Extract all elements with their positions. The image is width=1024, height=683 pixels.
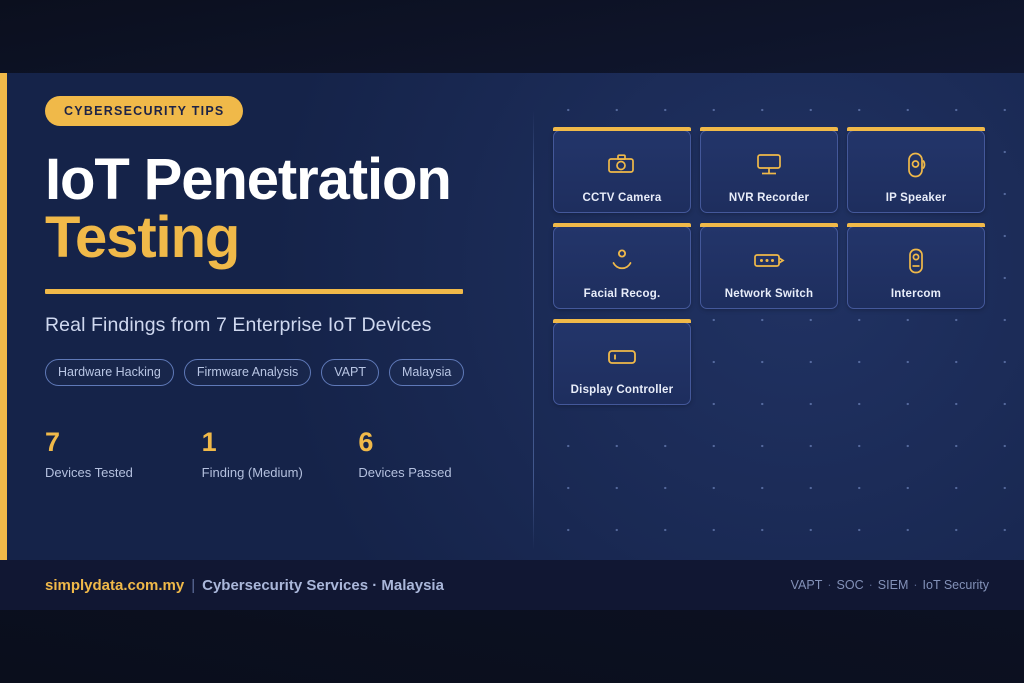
stat-label: Devices Tested: [45, 465, 202, 480]
stat-devices-passed: 6 Devices Passed: [358, 429, 515, 480]
device-name: Display Controller: [554, 384, 690, 396]
tag-list: Hardware Hacking Firmware Analysis VAPT …: [45, 359, 515, 386]
stat-label: Finding (Medium): [202, 465, 359, 480]
card-top-accent: [553, 319, 691, 323]
device-card-facial-recog: Facial Recog.: [553, 226, 691, 309]
device-name: Network Switch: [701, 288, 837, 300]
footer-services: Cybersecurity Services · Malaysia: [202, 577, 444, 594]
column-divider: [533, 110, 534, 550]
footer-tag-soc: SOC: [837, 578, 864, 592]
device-card-ip-speaker: IP Speaker: [847, 130, 985, 213]
tag-hardware-hacking: Hardware Hacking: [45, 359, 174, 386]
device-card-cctv-camera: CCTV Camera: [553, 130, 691, 213]
speaker-icon: [903, 150, 929, 180]
tag-firmware-analysis: Firmware Analysis: [184, 359, 311, 386]
stat-value: 6: [358, 429, 515, 456]
tag-malaysia: Malaysia: [389, 359, 464, 386]
stats-row: 7 Devices Tested 1 Finding (Medium) 6 De…: [45, 429, 515, 480]
title-line-1: IoT Penetration: [45, 152, 515, 208]
card-top-accent: [847, 127, 985, 131]
stat-label: Devices Passed: [358, 465, 515, 480]
intercom-icon: [905, 246, 927, 276]
category-badge: CYBERSECURITY TIPS: [45, 96, 243, 126]
footer-separator: |: [191, 577, 195, 594]
card-top-accent: [553, 223, 691, 227]
footer-tag-vapt: VAPT: [791, 578, 823, 592]
device-name: NVR Recorder: [701, 192, 837, 204]
footer-brand: simplydata.com.my: [45, 577, 184, 594]
left-accent-bar: [0, 73, 7, 560]
subtitle: Real Findings from 7 Enterprise IoT Devi…: [45, 314, 515, 337]
left-column: CYBERSECURITY TIPS IoT Penetration Testi…: [45, 96, 515, 480]
device-name: IP Speaker: [848, 192, 984, 204]
footer-bar: simplydata.com.my|Cybersecurity Services…: [0, 560, 1024, 610]
footer-tag-dot: ·: [869, 578, 873, 592]
page-title: IoT Penetration Testing: [45, 152, 515, 267]
footer-tag-iot-security: IoT Security: [923, 578, 989, 592]
letterbox-top: [0, 0, 1024, 73]
footer-tag-dot: ·: [913, 578, 917, 592]
card-top-accent: [847, 223, 985, 227]
footer-tag-dot: ·: [827, 578, 831, 592]
card-top-accent: [700, 127, 838, 131]
device-card-intercom: Intercom: [847, 226, 985, 309]
face-icon: [608, 246, 636, 276]
title-line-2: Testing: [45, 210, 515, 266]
stat-value: 7: [45, 429, 202, 456]
device-card-network-switch: Network Switch: [700, 226, 838, 309]
monitor-icon: [754, 150, 784, 180]
title-underline: [45, 289, 463, 294]
footer-left: simplydata.com.my|Cybersecurity Services…: [45, 577, 444, 594]
device-card-grid: CCTV Camera NVR Recorder: [553, 130, 991, 405]
device-card-display-controller: Display Controller: [553, 322, 691, 405]
card-top-accent: [700, 223, 838, 227]
device-name: Facial Recog.: [554, 288, 690, 300]
infographic-root: CYBERSECURITY TIPS IoT Penetration Testi…: [0, 0, 1024, 683]
switch-icon: [753, 246, 785, 276]
stat-finding-medium: 1 Finding (Medium): [202, 429, 359, 480]
camera-icon: [607, 150, 637, 180]
stat-devices-tested: 7 Devices Tested: [45, 429, 202, 480]
device-card-nvr-recorder: NVR Recorder: [700, 130, 838, 213]
tag-vapt: VAPT: [321, 359, 379, 386]
letterbox-bottom: [0, 610, 1024, 683]
display-icon: [606, 342, 638, 372]
stat-value: 1: [202, 429, 359, 456]
footer-right: VAPT·SOC·SIEM·IoT Security: [791, 578, 989, 592]
card-top-accent: [553, 127, 691, 131]
footer-tag-siem: SIEM: [878, 578, 909, 592]
device-name: Intercom: [848, 288, 984, 300]
device-name: CCTV Camera: [554, 192, 690, 204]
